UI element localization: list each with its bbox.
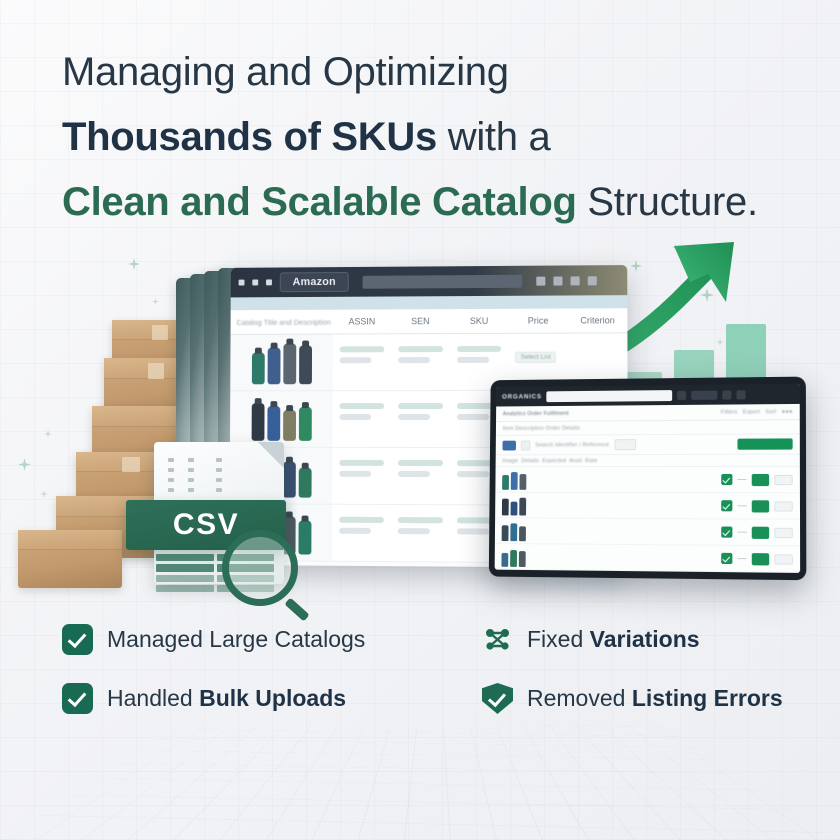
feature-handled-bulk-uploads[interactable]: Handled Bulk Uploads: [62, 683, 482, 714]
feature-removed-listing-errors[interactable]: Removed Listing Errors: [482, 683, 822, 714]
window-dot-icon[interactable]: [239, 280, 245, 286]
tablet-header: ORGANICS: [496, 384, 800, 407]
delete-icon[interactable]: [521, 440, 531, 450]
cardboard-box: [18, 530, 122, 588]
window-icon[interactable]: [588, 276, 597, 285]
column-header-product: Catalog Title and Description: [231, 317, 333, 326]
cell-assin: [332, 391, 390, 447]
expand-icon[interactable]: [737, 390, 746, 399]
sparkle-icon: [40, 490, 48, 498]
tablet-action-row: Search Identifier / Reference: [496, 434, 800, 455]
tablet-selection-label: Search Identifier / Reference: [535, 442, 609, 448]
feature-fixed-variations[interactable]: Fixed Variations: [482, 624, 822, 655]
menu-icon[interactable]: [723, 390, 732, 399]
grid-icon[interactable]: [553, 276, 562, 285]
column-header-sen[interactable]: SEN: [391, 316, 450, 326]
sparkle-icon: [152, 298, 159, 305]
item-description: [539, 557, 637, 558]
sparkle-icon: [44, 430, 52, 438]
browser-titlebar: Amazon: [231, 265, 628, 297]
variation-nodes-icon: [482, 624, 513, 655]
tablet-subheader: Analytics Order Fulfilment Filters Expor…: [496, 404, 800, 422]
grid-icon[interactable]: [571, 276, 580, 285]
tablet-col-labels: Image Details Expected Avail. Rate: [502, 458, 597, 464]
account-chip[interactable]: [692, 390, 718, 399]
cell-sen: [391, 448, 450, 504]
feature-label: Fixed Variations: [527, 626, 700, 653]
row-menu-button[interactable]: [774, 501, 793, 511]
page-title: Managing and Optimizing Thousands of SKU…: [62, 40, 822, 234]
divider-icon: [737, 531, 746, 533]
status-check-icon[interactable]: [721, 474, 732, 485]
catalog-table-header: Catalog Title and Description ASSIN SEN …: [231, 308, 628, 335]
column-header-assin[interactable]: ASSIN: [333, 316, 391, 326]
tablet-device[interactable]: ORGANICS Analytics Order Fulfilment Filt…: [489, 377, 807, 581]
headline-line-3-green: Clean and Scalable Catalog: [62, 180, 577, 224]
column-header-price[interactable]: Price: [509, 316, 568, 326]
cell-sen: [391, 391, 450, 447]
divider-icon: [737, 558, 746, 560]
feature-managed-large-catalogs[interactable]: Managed Large Catalogs: [62, 624, 482, 655]
check-badge-icon: [62, 683, 93, 714]
window-dot-icon[interactable]: [266, 279, 272, 285]
product-thumbnail: [501, 546, 534, 566]
divider-icon: [737, 505, 746, 507]
sparkle-icon: [18, 458, 31, 471]
filter-icon[interactable]: [678, 390, 687, 399]
item-description: [539, 531, 637, 532]
divider-icon: [737, 479, 746, 481]
feature-label: Managed Large Catalogs: [107, 626, 365, 653]
status-check-icon[interactable]: [721, 553, 732, 564]
feature-label: Removed Listing Errors: [527, 685, 783, 712]
feature-list: Managed Large Catalogs Fixed Variations …: [62, 624, 822, 714]
approve-button[interactable]: [752, 500, 769, 512]
approve-button[interactable]: [752, 526, 769, 538]
row-menu-button[interactable]: [774, 554, 793, 564]
tablet-search-input[interactable]: [547, 390, 673, 402]
status-check-icon[interactable]: [721, 526, 732, 537]
headline-line-3-plain: Structure.: [577, 180, 758, 224]
product-thumbnail: [230, 391, 333, 447]
tablet-column-header: Image Details Expected Avail. Rate: [496, 455, 800, 468]
secondary-button[interactable]: [614, 439, 636, 450]
tablet-page-title: Analytics Order Fulfilment: [503, 410, 569, 416]
approve-button[interactable]: [752, 553, 769, 565]
column-header-sku[interactable]: SKU: [450, 316, 509, 326]
product-thumbnail: [230, 335, 333, 391]
list-item[interactable]: [495, 493, 800, 520]
page-fold-icon: [258, 442, 284, 468]
headline-line-2-plain: with a: [437, 115, 551, 159]
column-header-criterion[interactable]: Criterion: [568, 315, 628, 325]
product-thumbnail: [502, 470, 535, 490]
browser-tab-amazon[interactable]: Amazon: [280, 272, 349, 292]
list-item[interactable]: [495, 544, 801, 573]
generate-report-button[interactable]: [737, 438, 792, 449]
status-check-icon[interactable]: [721, 500, 732, 511]
row-menu-button[interactable]: [774, 474, 793, 484]
sparkle-icon: [128, 258, 140, 270]
cell-assin: [333, 334, 391, 390]
shield-check-icon: [482, 683, 513, 714]
window-dot-icon[interactable]: [252, 279, 258, 285]
tablet-logo: ORGANICS: [502, 393, 542, 400]
bulk-select-button[interactable]: [502, 440, 516, 450]
address-bar[interactable]: [363, 274, 523, 288]
magnifier-icon: [222, 530, 298, 606]
list-item[interactable]: [495, 518, 800, 546]
cell-assin: [332, 448, 391, 504]
cell-assin: [332, 505, 391, 561]
grid-icon[interactable]: [536, 276, 545, 285]
illustration-scene: Amazon Catalog Title and Description ASS…: [0, 230, 840, 610]
tablet-header-actions[interactable]: Filters Export Sort ●●●: [721, 409, 793, 416]
tablet-breadcrumb-label: Item Description Order Details: [503, 425, 580, 431]
cell-sen: [391, 334, 450, 390]
cell-sen: [391, 505, 450, 562]
product-thumbnail: [502, 495, 535, 515]
headline-line-2-bold: Thousands of SKUs: [62, 115, 437, 159]
check-badge-icon: [62, 624, 93, 655]
approve-button[interactable]: [752, 473, 769, 485]
feature-label: Handled Bulk Uploads: [107, 685, 346, 712]
csv-file-graphic: CSV: [126, 442, 302, 592]
tablet-screen: ORGANICS Analytics Order Fulfilment Filt…: [495, 384, 801, 573]
headline-line-1: Managing and Optimizing: [62, 50, 509, 94]
row-menu-button[interactable]: [774, 527, 793, 537]
tablet-breadcrumb: Item Description Order Details: [496, 420, 800, 436]
list-item[interactable]: [495, 467, 800, 493]
product-thumbnail: [502, 521, 535, 541]
